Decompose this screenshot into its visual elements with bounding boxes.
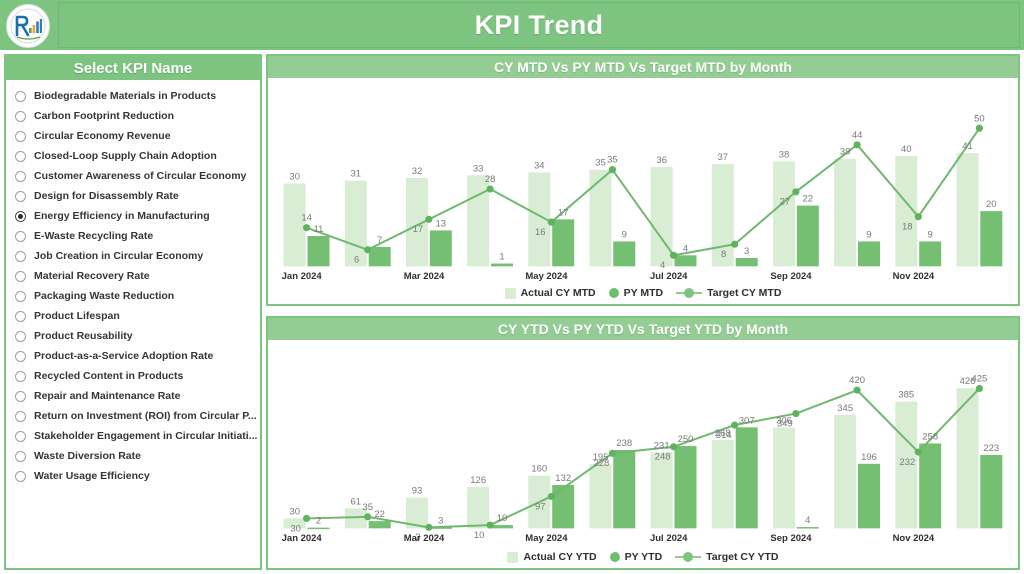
x-tick-10: Nov 2024 xyxy=(893,533,935,544)
radio-button-icon[interactable] xyxy=(15,331,26,342)
chart-legend-ytd[interactable]: Actual CY YTDPY YTDTarget CY YTD xyxy=(268,549,1018,565)
label-actual-8: 22 xyxy=(803,194,814,205)
x-tick-2: Mar 2024 xyxy=(404,533,445,544)
line-marker-6 xyxy=(670,252,677,259)
legend-item-0[interactable]: Actual CY YTD xyxy=(507,551,596,563)
bar-actual-6 xyxy=(675,255,697,266)
kpi-item-1[interactable]: Carbon Footprint Reduction xyxy=(6,106,260,126)
bar-target-0 xyxy=(284,183,306,266)
line-marker-1 xyxy=(364,246,371,253)
bar-target-6 xyxy=(651,452,673,528)
kpi-item-label: Customer Awareness of Circular Economy xyxy=(34,170,246,182)
legend-item-2[interactable]: Target CY MTD xyxy=(676,287,781,299)
line-marker-11 xyxy=(976,125,983,132)
label-py-4: 16 xyxy=(535,227,546,238)
bar-target-5 xyxy=(590,464,612,528)
kpi-item-label: Return on Investment (ROI) from Circular… xyxy=(34,410,257,422)
label-target-4: 160 xyxy=(531,464,547,475)
x-tick-8: Sep 2024 xyxy=(770,271,812,282)
x-tick-6: Jul 2024 xyxy=(650,271,688,282)
legend-item-1[interactable]: PY MTD xyxy=(609,287,663,299)
bar-actual-5 xyxy=(613,241,635,266)
kpi-item-label: Closed-Loop Supply Chain Adoption xyxy=(34,150,217,162)
legend-label: Actual CY YTD xyxy=(523,551,596,563)
legend-label: Actual CY MTD xyxy=(521,287,596,299)
bar-actual-3 xyxy=(491,525,513,528)
label-target-1: 61 xyxy=(351,496,362,507)
bar-target-9 xyxy=(834,159,856,267)
radio-button-icon[interactable] xyxy=(15,311,26,322)
line-marker-3 xyxy=(487,522,494,529)
bar-target-5 xyxy=(590,170,612,267)
line-marker-9 xyxy=(854,141,861,148)
radio-button-icon[interactable] xyxy=(15,411,26,422)
label-py-11: 425 xyxy=(971,374,987,385)
kpi-item-label: Repair and Maintenance Rate xyxy=(34,390,180,402)
label-py-1: 6 xyxy=(354,255,359,266)
line-marker-7 xyxy=(731,241,738,248)
bar-actual-1 xyxy=(369,521,391,528)
x-tick-4: May 2024 xyxy=(525,271,568,282)
label-target-9: 39 xyxy=(840,147,851,158)
label-actual-3: 10 xyxy=(497,513,508,524)
chart-svg-ytd: 3026122933126101601321952382312502683073… xyxy=(268,340,1018,568)
label-py-0: 14 xyxy=(301,213,312,224)
radio-button-icon[interactable] xyxy=(15,251,26,262)
label-py-10: 232 xyxy=(899,457,915,468)
bar-target-3 xyxy=(467,175,489,266)
label-actual-10: 258 xyxy=(922,432,938,443)
label-py-8: 27 xyxy=(780,197,791,208)
kpi-item-label: Product Reusability xyxy=(34,330,133,342)
kpi-item-9[interactable]: Material Recovery Rate xyxy=(6,266,260,286)
x-tick-0: Jan 2024 xyxy=(282,533,323,544)
bar-actual-8 xyxy=(797,206,819,267)
kpi-item-12[interactable]: Product Reusability xyxy=(6,326,260,346)
line-marker-2 xyxy=(425,216,432,223)
label-actual-3: 1 xyxy=(499,252,504,263)
label-py-6: 4 xyxy=(660,260,665,271)
line-marker-10 xyxy=(915,213,922,220)
legend-swatch-target-icon xyxy=(676,288,702,298)
label-target-2: 32 xyxy=(412,166,423,177)
kpi-item-label: E-Waste Recycling Rate xyxy=(34,230,153,242)
label-actual-7: 3 xyxy=(744,246,749,257)
kpi-item-14[interactable]: Recycled Content in Products xyxy=(6,366,260,386)
bar-target-8 xyxy=(773,161,795,266)
kpi-item-label: Circular Economy Revenue xyxy=(34,130,171,142)
radio-button-icon[interactable] xyxy=(15,231,26,242)
label-py-5: 228 xyxy=(593,458,609,469)
label-py-11: 50 xyxy=(974,113,985,124)
kpi-item-11[interactable]: Product Lifespan xyxy=(6,306,260,326)
kpi-item-4[interactable]: Customer Awareness of Circular Economy xyxy=(6,166,260,186)
label-actual-9: 9 xyxy=(866,230,871,241)
label-actual-4: 17 xyxy=(558,207,569,218)
dashboard-root: KPI Trend Select KPI Name Biodegradable … xyxy=(0,0,1024,574)
kpi-item-label: Stakeholder Engagement in Circular Initi… xyxy=(34,430,257,442)
kpi-item-label: Job Creation in Circular Economy xyxy=(34,250,203,262)
legend-label: Target CY MTD xyxy=(707,287,781,299)
line-marker-8 xyxy=(792,410,799,417)
kpi-item-18[interactable]: Waste Diversion Rate xyxy=(6,446,260,466)
line-marker-0 xyxy=(303,515,310,522)
kpi-item-label: Waste Diversion Rate xyxy=(34,450,141,462)
kpi-item-label: Recycled Content in Products xyxy=(34,370,183,382)
label-py-9: 44 xyxy=(852,130,863,141)
label-actual-9: 196 xyxy=(861,452,877,463)
legend-label: Target CY YTD xyxy=(706,551,778,563)
label-py-6: 248 xyxy=(655,452,671,463)
label-py-1: 35 xyxy=(362,502,373,513)
line-marker-9 xyxy=(854,387,861,394)
legend-label: PY YTD xyxy=(625,551,663,563)
label-actual-11: 223 xyxy=(983,443,999,454)
bar-actual-6 xyxy=(675,446,697,528)
label-py-7: 8 xyxy=(721,249,726,260)
line-marker-5 xyxy=(609,450,616,457)
label-actual-1: 22 xyxy=(374,509,385,520)
label-actual-10: 9 xyxy=(928,230,933,241)
label-py-5: 35 xyxy=(607,155,618,166)
bar-actual-9 xyxy=(858,241,880,266)
kpi-item-label: Packaging Waste Reduction xyxy=(34,290,174,302)
label-target-9: 345 xyxy=(837,403,853,414)
bar-actual-7 xyxy=(736,427,758,528)
line-marker-7 xyxy=(731,421,738,428)
label-actual-2: 13 xyxy=(436,219,447,230)
bar-actual-8 xyxy=(797,527,819,528)
label-target-1: 31 xyxy=(351,169,362,180)
label-target-5: 35 xyxy=(595,158,606,169)
label-py-2: 17 xyxy=(413,224,424,235)
kpi-item-label: Biodegradable Materials in Products xyxy=(34,90,216,102)
kpi-item-0[interactable]: Biodegradable Materials in Products xyxy=(6,86,260,106)
chart-panel-mtd: CY MTD Vs PY MTD Vs Target MTD by Month … xyxy=(266,54,1020,306)
radio-button-icon[interactable] xyxy=(15,211,26,222)
line-marker-1 xyxy=(364,513,371,520)
radio-button-icon[interactable] xyxy=(15,171,26,182)
page-title: KPI Trend xyxy=(475,10,604,41)
radio-button-icon[interactable] xyxy=(15,151,26,162)
label-py-3: 28 xyxy=(485,174,496,185)
bar-target-9 xyxy=(834,415,856,529)
app-header: KPI Trend xyxy=(0,0,1024,50)
bar-target-11 xyxy=(957,153,979,266)
kpi-item-5[interactable]: Design for Disassembly Rate xyxy=(6,186,260,206)
legend-swatch-py-icon xyxy=(609,288,619,298)
kpi-item-label: Product Lifespan xyxy=(34,310,120,322)
label-target-10: 40 xyxy=(901,144,912,155)
label-target-6: 36 xyxy=(656,155,667,166)
line-marker-11 xyxy=(976,385,983,392)
bar-actual-11 xyxy=(980,211,1002,266)
bar-actual-0 xyxy=(308,528,330,529)
bar-target-3 xyxy=(467,487,489,528)
kpi-item-3[interactable]: Closed-Loop Supply Chain Adoption xyxy=(6,146,260,166)
label-target-7: 37 xyxy=(718,152,729,163)
x-tick-2: Mar 2024 xyxy=(404,271,445,282)
label-target-0: 30 xyxy=(289,507,300,518)
bar-actual-4 xyxy=(552,219,574,266)
chart-legend-mtd[interactable]: Actual CY MTDPY MTDTarget CY MTD xyxy=(268,285,1018,301)
label-actual-7: 307 xyxy=(739,415,755,426)
kpi-item-label: Design for Disassembly Rate xyxy=(34,190,179,202)
kpi-item-13[interactable]: Product-as-a-Service Adoption Rate xyxy=(6,346,260,366)
kpi-item-10[interactable]: Packaging Waste Reduction xyxy=(6,286,260,306)
kpi-item-16[interactable]: Return on Investment (ROI) from Circular… xyxy=(6,406,260,426)
label-target-10: 385 xyxy=(898,390,914,401)
label-target-6: 231 xyxy=(654,440,670,451)
line-marker-10 xyxy=(915,448,922,455)
label-actual-0: 11 xyxy=(314,224,324,235)
header-title-bar: KPI Trend xyxy=(58,2,1020,48)
bar-actual-10 xyxy=(919,443,941,528)
legend-swatch-actual-icon xyxy=(507,552,518,563)
label-actual-5: 9 xyxy=(622,230,627,241)
bar-actual-0 xyxy=(308,236,330,266)
label-actual-8: 4 xyxy=(805,515,810,526)
x-tick-0: Jan 2024 xyxy=(282,271,323,282)
kpi-item-8[interactable]: Job Creation in Circular Economy xyxy=(6,246,260,266)
legend-swatch-target-icon xyxy=(675,552,701,562)
kpi-item-label: Material Recovery Rate xyxy=(34,270,150,282)
legend-swatch-py-icon xyxy=(610,552,620,562)
legend-swatch-actual-icon xyxy=(505,288,516,299)
bar-actual-7 xyxy=(736,258,758,266)
radio-button-icon[interactable] xyxy=(15,451,26,462)
label-target-11: 41 xyxy=(962,141,973,152)
line-marker-8 xyxy=(792,188,799,195)
slicer-title: Select KPI Name xyxy=(6,56,260,80)
x-tick-6: Jul 2024 xyxy=(650,533,688,544)
bar-target-1 xyxy=(345,181,367,267)
label-actual-6: 250 xyxy=(678,434,694,445)
label-target-8: 38 xyxy=(779,149,790,160)
radio-button-icon[interactable] xyxy=(15,111,26,122)
radio-button-icon[interactable] xyxy=(15,191,26,202)
bar-target-8 xyxy=(773,428,795,529)
chart-title-ytd: CY YTD Vs PY YTD Vs Target YTD by Month xyxy=(268,318,1018,340)
label-target-3: 33 xyxy=(473,163,484,174)
bar-actual-3 xyxy=(491,264,513,267)
radio-button-icon[interactable] xyxy=(15,371,26,382)
kpi-slicer-panel: Select KPI Name Biodegradable Materials … xyxy=(4,54,262,570)
radio-button-icon[interactable] xyxy=(15,271,26,282)
plot-area-mtd: 3011317321333134173593643733822399409412… xyxy=(268,78,1018,304)
kpi-item-label: Carbon Footprint Reduction xyxy=(34,110,174,122)
line-marker-4 xyxy=(548,493,555,500)
bar-target-6 xyxy=(651,167,673,266)
bar-actual-1 xyxy=(369,247,391,266)
radio-button-icon[interactable] xyxy=(15,351,26,362)
kpi-item-label: Product-as-a-Service Adoption Rate xyxy=(34,350,213,362)
legend-item-2[interactable]: Target CY YTD xyxy=(675,551,778,563)
line-marker-4 xyxy=(548,219,555,226)
label-actual-6: 4 xyxy=(683,243,688,254)
bar-actual-9 xyxy=(858,464,880,529)
label-target-3: 126 xyxy=(470,475,486,486)
label-target-0: 30 xyxy=(289,172,300,183)
label-py-7: 314 xyxy=(716,430,732,441)
bar-actual-2 xyxy=(430,230,452,266)
radio-button-icon[interactable] xyxy=(15,431,26,442)
line-marker-6 xyxy=(670,443,677,450)
x-tick-4: May 2024 xyxy=(525,533,568,544)
radio-button-icon[interactable] xyxy=(15,391,26,402)
label-actual-2: 3 xyxy=(438,515,443,526)
radio-button-icon[interactable] xyxy=(15,471,26,482)
legend-item-1[interactable]: PY YTD xyxy=(610,551,663,563)
kpi-logo-icon xyxy=(6,4,50,48)
chart-panel-ytd: CY YTD Vs PY YTD Vs Target YTD by Month … xyxy=(266,316,1020,570)
kpi-item-15[interactable]: Repair and Maintenance Rate xyxy=(6,386,260,406)
line-marker-0 xyxy=(303,224,310,231)
kpi-item-17[interactable]: Stakeholder Engagement in Circular Initi… xyxy=(6,426,260,446)
bar-actual-10 xyxy=(919,241,941,266)
radio-button-icon[interactable] xyxy=(15,91,26,102)
plot-area-ytd: 3026122933126101601321952382312502683073… xyxy=(268,340,1018,568)
kpi-item-2[interactable]: Circular Economy Revenue xyxy=(6,126,260,146)
label-actual-5: 238 xyxy=(616,438,632,449)
bar-target-7 xyxy=(712,440,734,528)
label-actual-1: 7 xyxy=(377,235,382,246)
line-marker-3 xyxy=(487,185,494,192)
legend-label: PY MTD xyxy=(624,287,663,299)
label-py-3: 10 xyxy=(474,530,485,541)
kpi-radio-list[interactable]: Biodegradable Materials in ProductsCarbo… xyxy=(6,80,260,486)
line-marker-5 xyxy=(609,166,616,173)
label-target-4: 34 xyxy=(534,161,545,172)
radio-button-icon[interactable] xyxy=(15,131,26,142)
label-py-4: 97 xyxy=(535,501,546,512)
kpi-item-label: Water Usage Efficiency xyxy=(34,470,150,482)
label-actual-0: 2 xyxy=(316,516,321,527)
legend-item-0[interactable]: Actual CY MTD xyxy=(505,287,596,299)
kpi-item-7[interactable]: E-Waste Recycling Rate xyxy=(6,226,260,246)
radio-button-icon[interactable] xyxy=(15,291,26,302)
kpi-item-6[interactable]: Energy Efficiency in Manufacturing xyxy=(6,206,260,226)
chart-title-mtd: CY MTD Vs PY MTD Vs Target MTD by Month xyxy=(268,56,1018,78)
x-tick-8: Sep 2024 xyxy=(770,533,812,544)
label-actual-11: 20 xyxy=(986,199,997,210)
kpi-item-label: Energy Efficiency in Manufacturing xyxy=(34,210,210,222)
x-tick-10: Nov 2024 xyxy=(893,271,935,282)
kpi-item-19[interactable]: Water Usage Efficiency xyxy=(6,466,260,486)
label-py-8: 349 xyxy=(777,418,793,429)
chart-svg-mtd: 3011317321333134173593643733822399409412… xyxy=(268,78,1018,304)
label-target-2: 93 xyxy=(412,486,423,497)
label-py-10: 18 xyxy=(902,222,913,233)
label-actual-4: 132 xyxy=(555,473,571,484)
label-py-9: 420 xyxy=(849,375,865,386)
bar-actual-4 xyxy=(552,485,574,528)
bar-actual-5 xyxy=(613,450,635,528)
bar-actual-11 xyxy=(980,455,1002,528)
line-marker-2 xyxy=(425,524,432,531)
